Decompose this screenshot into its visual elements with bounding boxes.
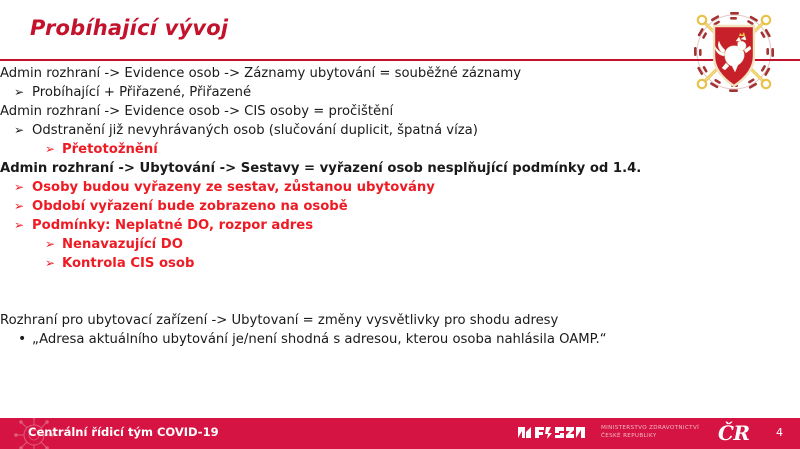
content-line: ➢Kontrola CIS osob: [0, 254, 680, 273]
ministry-label: MINISTERSTVO ZDRAVOTNICTVÍ ČESKÉ REPUBLI…: [601, 425, 699, 440]
czech-coat-of-arms-icon: [678, 6, 790, 98]
arrow-bullet-icon: ➢: [14, 121, 24, 140]
arrow-bullet-icon: ➢: [14, 178, 24, 197]
content-line-text: Období vyřazení bude zobrazeno na osobě: [32, 199, 348, 214]
page-title: Probíhající vývoj: [30, 16, 228, 40]
arrow-bullet-icon: ➢: [14, 216, 24, 235]
content-line: ➢Přetotožnění: [0, 140, 680, 159]
content-line: Admin rozhraní -> Ubytování -> Sestavy =…: [0, 159, 680, 178]
content-line: ➢Nenavazující DO: [0, 235, 680, 254]
content-line: Admin rozhraní -> Evidence osob -> Zázna…: [0, 64, 680, 83]
arrow-bullet-icon: ➢: [45, 140, 55, 159]
content-line-text: Osoby budou vyřazeny ze sestav, zůstanou…: [32, 180, 435, 195]
content-line-text: Podmínky: Neplatné DO, rozpor adres: [32, 218, 313, 233]
content-spacer: [0, 292, 680, 311]
content-line-text: Admin rozhraní -> Evidence osob -> Zázna…: [0, 66, 521, 81]
content-line-text: Probíhající + Přiřazené, Přiřazené: [32, 85, 251, 100]
slide: Probíhající vývoj: [0, 0, 800, 449]
content-spacer: [0, 273, 680, 292]
slide-body: Admin rozhraní -> Evidence osob -> Zázna…: [0, 64, 680, 349]
ministry-of-health-logo-icon: [517, 424, 595, 443]
content-line-text: Admin rozhraní -> Evidence osob -> CIS o…: [0, 104, 393, 119]
content-line-text: Admin rozhraní -> Ubytování -> Sestavy =…: [0, 161, 641, 176]
content-line-text: „Adresa aktuálního ubytování je/není sho…: [32, 332, 607, 347]
content-line: ➢Osoby budou vyřazeny ze sestav, zůstano…: [0, 178, 680, 197]
round-bullet-icon: •: [18, 330, 26, 349]
arrow-bullet-icon: ➢: [45, 235, 55, 254]
ministry-line-2: ČESKÉ REPUBLIKY: [601, 433, 699, 441]
content-line: ➢Probíhající + Přiřazené, Přiřazené: [0, 83, 680, 102]
content-line: ➢Období vyřazení bude zobrazeno na osobě: [0, 197, 680, 216]
content-line: Rozhraní pro ubytovací zařízení -> Ubyto…: [0, 311, 680, 330]
content-line-text: Kontrola CIS osob: [62, 256, 194, 271]
content-line-text: Odstranění již nevyhrávaných osob (slučo…: [32, 123, 478, 138]
content-line-text: Rozhraní pro ubytovací zařízení -> Ubyto…: [0, 313, 558, 328]
footer-team-label: Centrální řídicí tým COVID-19: [28, 425, 219, 439]
page-number: 4: [776, 426, 783, 439]
arrow-bullet-icon: ➢: [14, 197, 24, 216]
content-line: Admin rozhraní -> Evidence osob -> CIS o…: [0, 102, 680, 121]
arrow-bullet-icon: ➢: [14, 83, 24, 102]
ministry-line-1: MINISTERSTVO ZDRAVOTNICTVÍ: [601, 425, 699, 433]
content-line: ➢Odstranění již nevyhrávaných osob (sluč…: [0, 121, 680, 140]
content-line: ➢Podmínky: Neplatné DO, rozpor adres: [0, 216, 680, 235]
content-line: •„Adresa aktuálního ubytování je/není sh…: [0, 330, 680, 349]
content-line-text: Přetotožnění: [62, 142, 158, 157]
content-line-text: Nenavazující DO: [62, 237, 183, 252]
arrow-bullet-icon: ➢: [45, 254, 55, 273]
cr-logo: ČR: [718, 421, 750, 445]
